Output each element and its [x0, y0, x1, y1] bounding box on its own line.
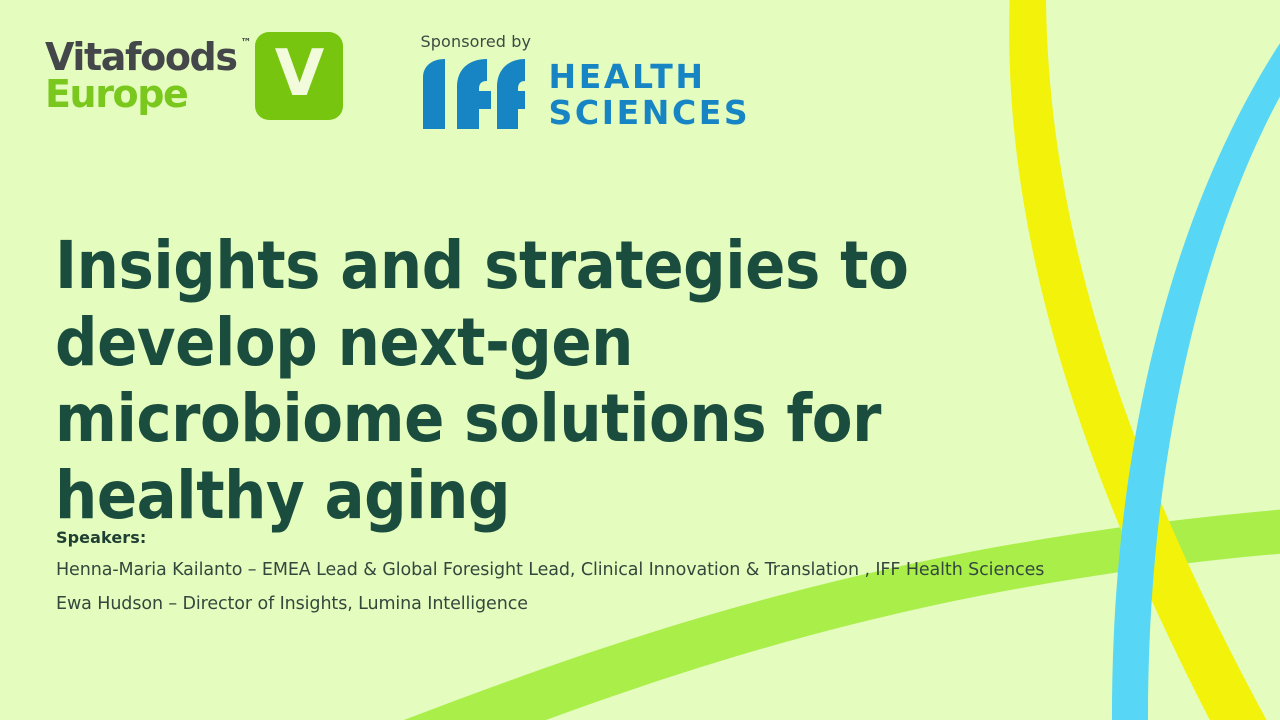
- iff-wordmark-line2: SCIENCES: [549, 95, 751, 131]
- speaker-entry: Ewa Hudson – Director of Insights, Lumin…: [56, 594, 1196, 614]
- sponsor-block: Sponsored by HEALTH SCIENCES: [421, 30, 751, 131]
- badge-letter: V: [275, 42, 323, 106]
- iff-wordmark: HEALTH SCIENCES: [549, 59, 751, 130]
- brand-name-line2: Europe: [45, 77, 237, 112]
- speaker-entry: Henna-Maria Kailanto – EMEA Lead & Globa…: [56, 560, 1196, 580]
- speakers-label: Speakers:: [56, 528, 1196, 547]
- speakers-section: Speakers: Henna-Maria Kailanto – EMEA Le…: [56, 528, 1196, 628]
- brand-name-line1-text: Vitafoods: [45, 35, 237, 79]
- trademark-icon: ™: [241, 38, 252, 48]
- slide-title: Insights and strategies to develop next-…: [55, 228, 910, 534]
- sponsored-by-label: Sponsored by: [421, 32, 751, 51]
- vitafoods-v-badge-icon: V: [255, 32, 343, 120]
- iff-wordmark-line1: HEALTH: [549, 59, 751, 95]
- iff-health-sciences-logo: HEALTH SCIENCES: [421, 55, 751, 131]
- vitafoods-wordmark: Vitafoods ™ Europe: [45, 38, 237, 112]
- slide-header: Vitafoods ™ Europe V Sponsored by: [45, 30, 750, 131]
- brand-name-line1: Vitafoods ™: [45, 40, 237, 75]
- presentation-slide: Vitafoods ™ Europe V Sponsored by: [0, 0, 1280, 720]
- vitafoods-europe-logo: Vitafoods ™ Europe V: [45, 30, 343, 120]
- iff-mark-icon: [421, 57, 525, 131]
